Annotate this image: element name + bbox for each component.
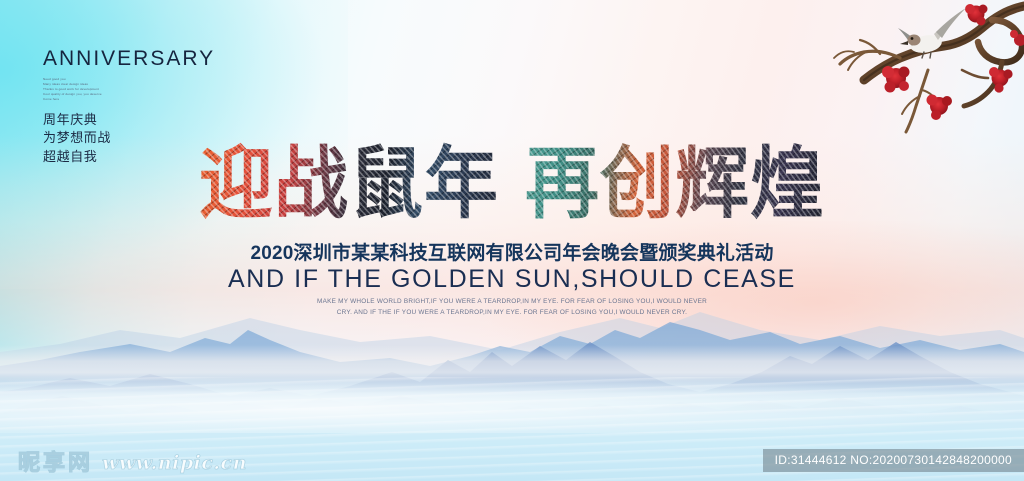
slogan-line-3: 超越自我: [43, 148, 215, 166]
main-title-line: 迎战鼠年再创辉煌: [199, 133, 825, 235]
poster-canvas: ANNIVERSARY Need good you Many ideas cle…: [0, 0, 1024, 481]
subtitle-paragraph: MAKE MY WHOLE WORLD BRIGHT,IF YOU WERE A…: [0, 296, 1024, 318]
slogan-line-2: 为梦想而战: [43, 129, 215, 147]
corner-text-block: ANNIVERSARY Need good you Many ideas cle…: [43, 48, 215, 166]
watermark-site-url: www.nipic.cn: [102, 454, 247, 473]
slogan-line-1: 周年庆典: [43, 111, 215, 129]
paragraph-line-2: CRY. AND IF THE IF YOU WERE A TEARDROP,I…: [0, 307, 1024, 318]
site-watermark: 昵享网 www.nipic.cn: [18, 452, 247, 474]
micro-line: Come here: [43, 97, 215, 102]
title-segment-a: 迎战鼠年: [199, 133, 499, 235]
paragraph-line-1: MAKE MY WHOLE WORLD BRIGHT,IF YOU WERE A…: [0, 296, 1024, 307]
plum-blossom-branch-decor: [824, 0, 1024, 145]
subtitle-chinese: 2020深圳市某某科技互联网有限公司年会晚会暨颁奖典礼活动: [0, 238, 1024, 265]
slogan-block: 周年庆典 为梦想而战 超越自我: [43, 111, 215, 166]
title-segment-b: 再创辉煌: [525, 133, 825, 235]
plum-blossom: [965, 4, 988, 26]
image-id-badge: ID:31444612 NO:20200730142848200000: [763, 449, 1024, 472]
watermark-site-name-cn: 昵享网: [18, 452, 93, 474]
plum-blossom: [882, 66, 910, 93]
subtitle-english: AND IF THE GOLDEN SUN,SHOULD CEASE: [0, 265, 1024, 294]
plum-blossom: [927, 95, 953, 121]
micro-description-lines: Need good you Many ideas clear design id…: [43, 77, 215, 102]
anniversary-heading: ANNIVERSARY: [43, 48, 215, 69]
water-highlight: [0, 375, 1024, 433]
plum-blossom: [1010, 30, 1024, 46]
